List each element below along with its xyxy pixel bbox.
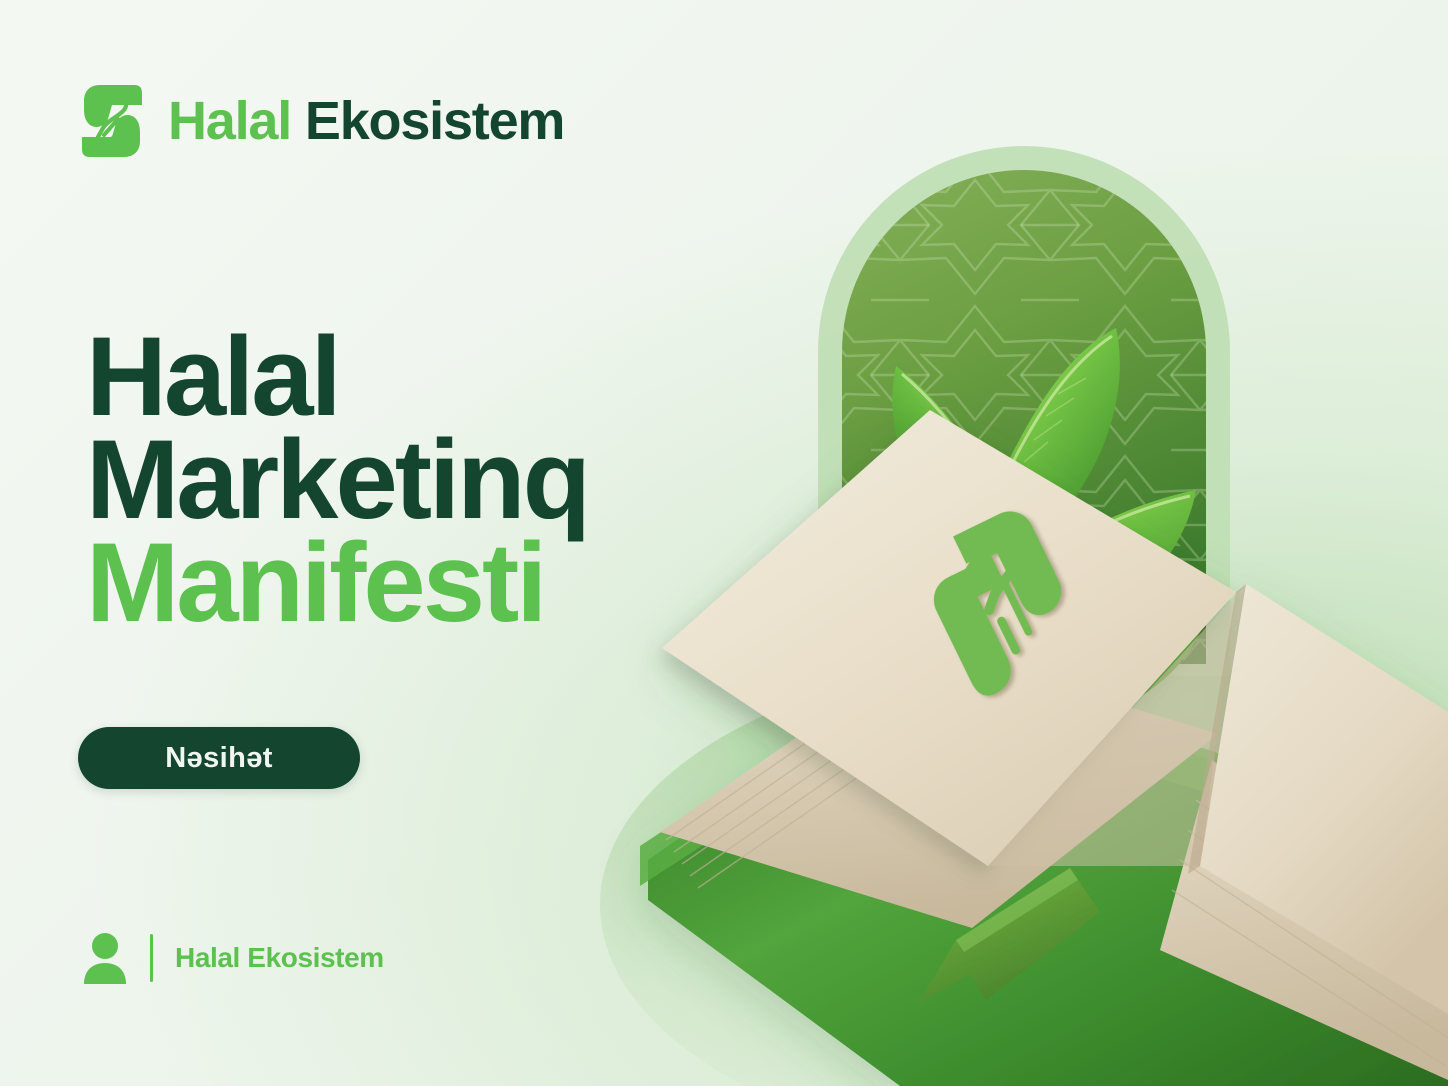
- title-line-3: Manifesti: [86, 531, 588, 634]
- person-icon: [82, 932, 128, 984]
- brand-word-1: Halal: [168, 91, 291, 151]
- divider: [150, 934, 153, 982]
- handshake-icon: [78, 75, 146, 167]
- poster-canvas: Halal Ekosistem Halal Marketinq Manifest…: [0, 0, 1448, 1086]
- category-badge[interactable]: Nəsihət: [78, 727, 360, 789]
- page-title: Halal Marketinq Manifesti: [86, 325, 588, 634]
- title-line-1: Halal: [86, 325, 588, 428]
- category-badge-label: Nəsihət: [165, 742, 273, 775]
- author-name: Halal Ekosistem: [175, 942, 384, 974]
- brand-logo[interactable]: Halal Ekosistem: [78, 75, 564, 167]
- brand-word-2: Ekosistem: [305, 91, 564, 151]
- brand-wordmark: Halal Ekosistem: [168, 94, 564, 148]
- hero-illustration: [600, 0, 1448, 1086]
- title-line-2: Marketinq: [86, 428, 588, 531]
- author-credit: Halal Ekosistem: [82, 932, 384, 984]
